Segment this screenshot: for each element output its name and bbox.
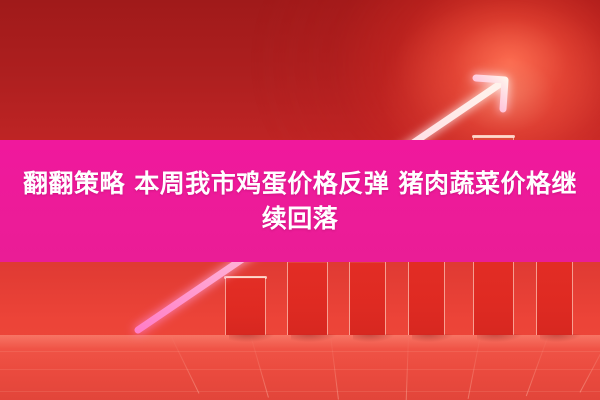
banner-image: 翻翻策略 本周我市鸡蛋价格反弹 猪肉蔬菜价格继 续回落 [0, 0, 600, 400]
headline-text: 翻翻策略 本周我市鸡蛋价格反弹 猪肉蔬菜价格继 续回落 [0, 140, 600, 262]
bar-shadow [477, 334, 522, 342]
chart-bar-1 [225, 277, 266, 335]
bar-shadow [412, 334, 453, 342]
bar-shadow [353, 334, 394, 342]
headline-line-2: 续回落 [262, 204, 339, 234]
bar-shadow [291, 334, 336, 342]
bar-top-rim [224, 276, 266, 279]
headline-line-1: 翻翻策略 本周我市鸡蛋价格反弹 猪肉蔬菜价格继 [17, 169, 583, 199]
bar-shadow [229, 334, 274, 342]
bar-top-rim [472, 135, 514, 138]
bar-shadow [540, 334, 581, 342]
